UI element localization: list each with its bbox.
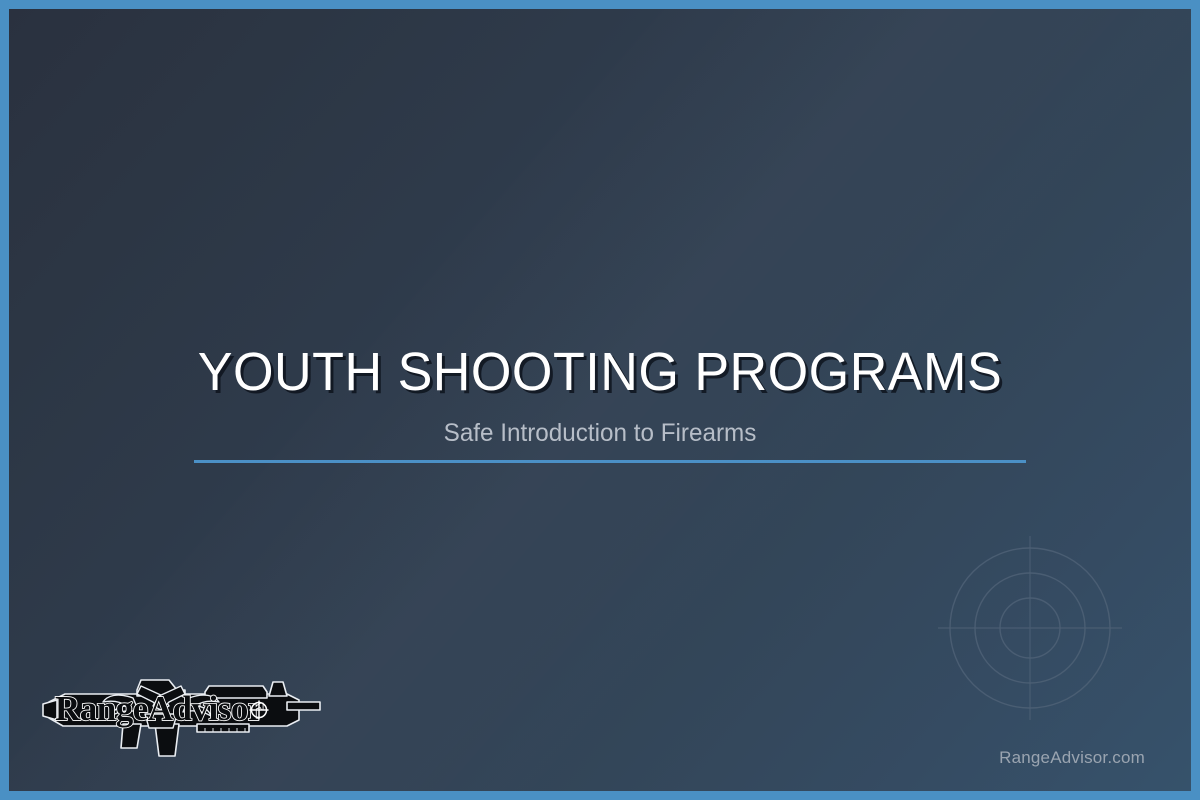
svg-text:RangeAdvisor: RangeAdvisor: [55, 689, 263, 728]
page-title: YOUTH SHOOTING PROGRAMS: [30, 345, 1171, 399]
footer-website-url: RangeAdvisor.com: [999, 748, 1145, 768]
accent-divider: [194, 460, 1026, 463]
brand-logo: RangeAdvisor: [37, 658, 322, 763]
presentation-slide: YOUTH SHOOTING PROGRAMS Safe Introductio…: [0, 0, 1200, 800]
page-subtitle: Safe Introduction to Firearms: [27, 421, 1174, 446]
slide-canvas: YOUTH SHOOTING PROGRAMS Safe Introductio…: [9, 9, 1191, 791]
target-reticle-icon: [930, 528, 1130, 728]
